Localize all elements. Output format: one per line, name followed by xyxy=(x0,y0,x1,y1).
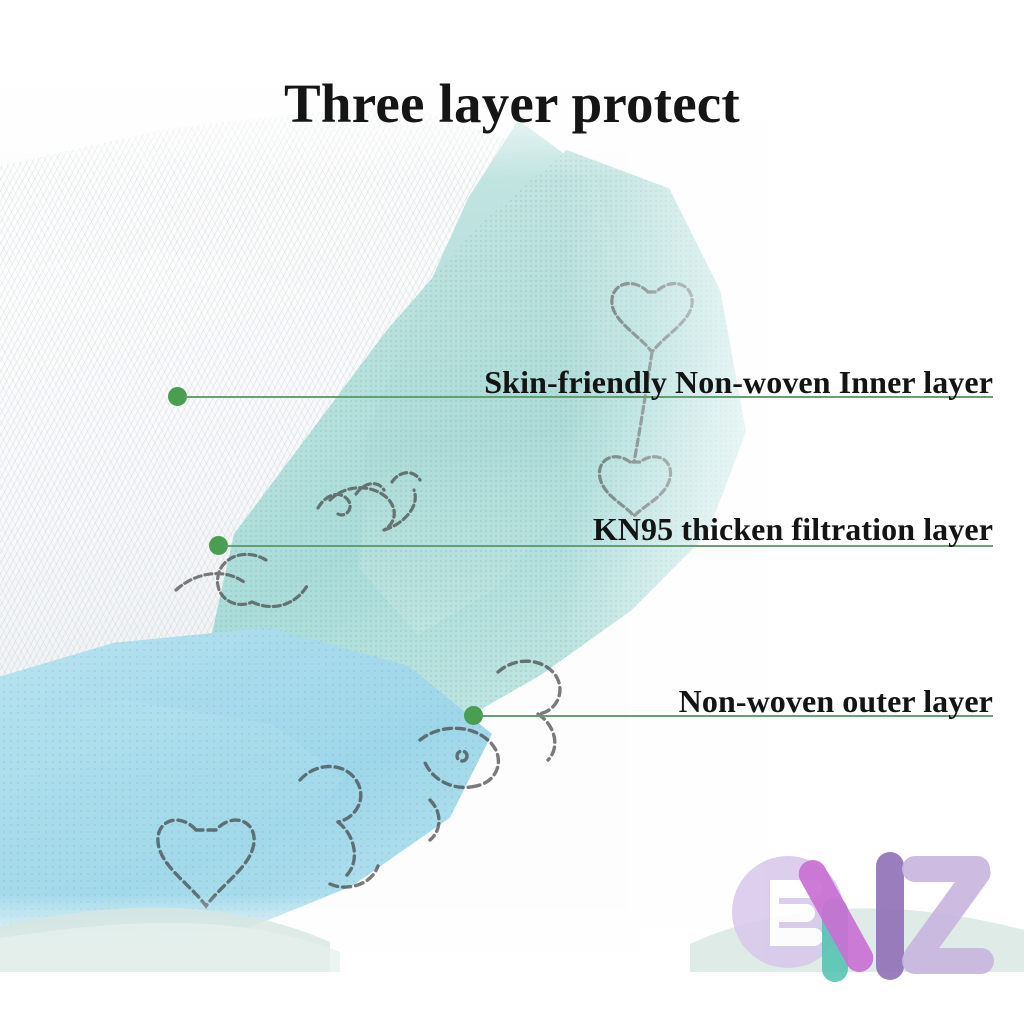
callout-label-outer-layer: Non-woven outer layer xyxy=(560,683,993,720)
brand-logo-svg xyxy=(726,836,998,986)
page-title: Three layer protect xyxy=(0,72,1024,135)
infographic-canvas: Three layer protect Skin-friendly Non-wo… xyxy=(0,0,1024,1024)
callout-label-inner-layer: Skin-friendly Non-woven Inner layer xyxy=(300,364,993,401)
logo-letter-z xyxy=(898,855,995,975)
logo-letter-n-upright xyxy=(876,852,904,980)
brand-logo-enz xyxy=(726,836,998,986)
callout-label-filtration-layer: KN95 thicken filtration layer xyxy=(400,511,993,548)
